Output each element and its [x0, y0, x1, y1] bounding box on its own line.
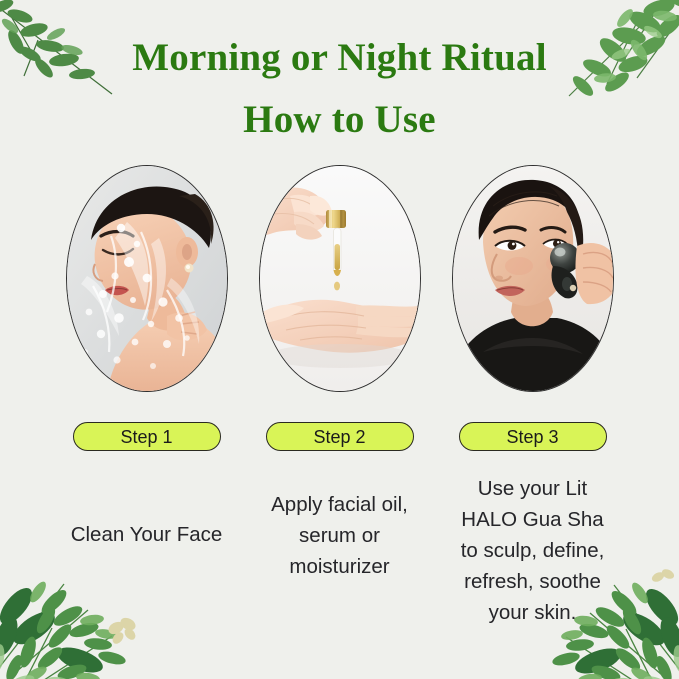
page-title: Morning or Night Ritual How to Use	[0, 38, 679, 139]
step-2-photo-serum-dropper-over-palm	[259, 165, 421, 392]
step-1-badge[interactable]: Step 1	[73, 422, 221, 451]
step-2-badge[interactable]: Step 2	[266, 422, 414, 451]
step-2-caption: Apply facial oil, serum or moisturizer	[245, 489, 435, 582]
title-line-2: How to Use	[0, 100, 679, 139]
step-3-photo-gua-sha-on-cheek	[452, 165, 614, 392]
step-1-badge-label: Step 1	[120, 428, 172, 446]
step-1-caption: Clean Your Face	[52, 519, 242, 550]
step-3-badge[interactable]: Step 3	[459, 422, 607, 451]
step-column-3: Step 3 Use your Lit HALO Gua Sha to scul…	[436, 165, 629, 628]
infographic-page: Morning or Night Ritual How to Use	[0, 0, 679, 679]
step-3-badge-label: Step 3	[506, 428, 558, 446]
step-3-caption: Use your Lit HALO Gua Sha to sculp, defi…	[438, 473, 628, 628]
step-column-2: Step 2 Apply facial oil, serum or moistu…	[243, 165, 436, 582]
steps-row: Step 1 Clean Your Face	[0, 165, 679, 628]
title-line-1: Morning or Night Ritual	[0, 38, 679, 77]
step-1-photo-woman-splashing-water	[66, 165, 228, 392]
step-column-1: Step 1 Clean Your Face	[50, 165, 243, 550]
step-2-badge-label: Step 2	[313, 428, 365, 446]
